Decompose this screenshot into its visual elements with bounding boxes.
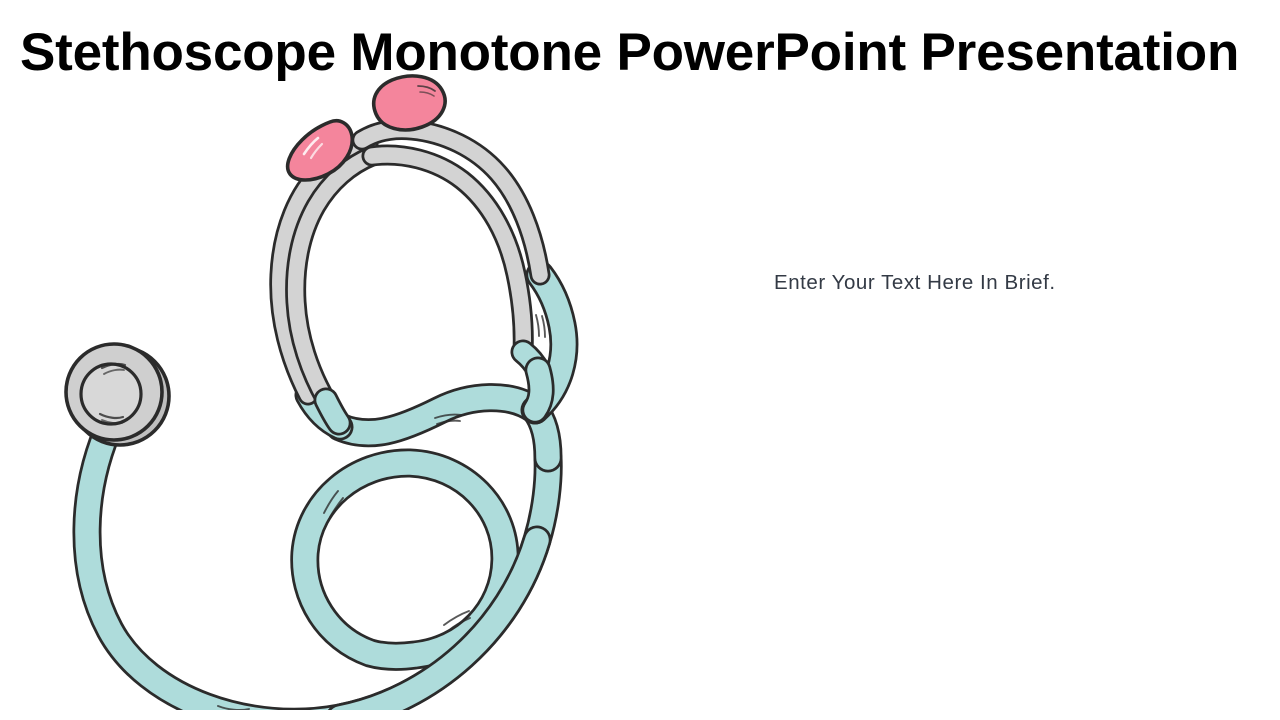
right-eartip bbox=[374, 76, 445, 130]
slide-canvas: Stethoscope Monotone PowerPoint Presenta… bbox=[0, 0, 1280, 720]
body-caption-text: Enter Your Text Here In Brief. bbox=[774, 269, 1056, 297]
stethoscope-illustration bbox=[40, 70, 610, 710]
chest-piece bbox=[66, 344, 169, 445]
tubing-right-inner bbox=[535, 370, 541, 410]
stethoscope-group bbox=[66, 76, 564, 710]
tube-transition-left bbox=[326, 400, 339, 423]
